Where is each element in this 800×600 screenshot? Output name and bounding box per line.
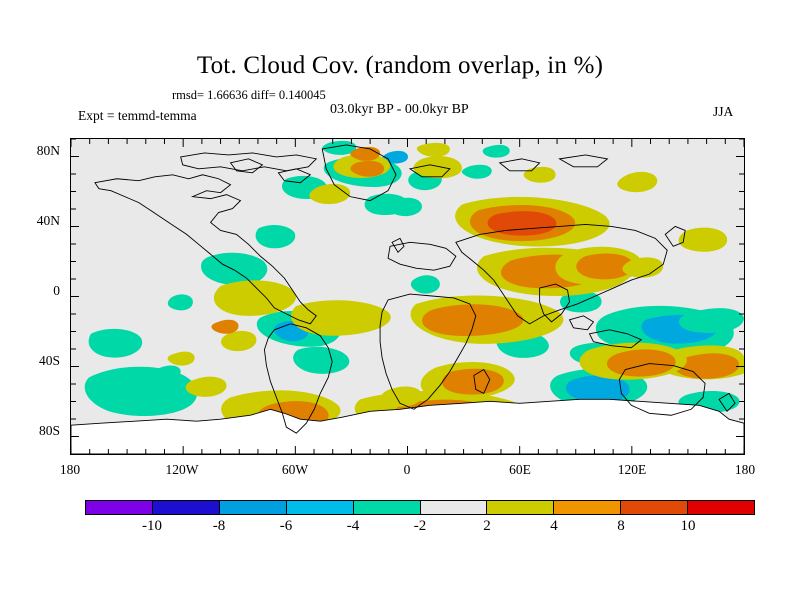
colorbar-tick-neg2: -2	[390, 518, 450, 535]
colorbar-tick-8: 8	[591, 518, 651, 535]
colorbar-segment-6[interactable]	[487, 501, 554, 514]
colorbar-tick-2: 2	[457, 518, 517, 535]
colorbar-segment-8[interactable]	[621, 501, 688, 514]
colorbar-tick-10: 10	[658, 518, 718, 535]
stats-annotation: rmsd= 1.66636 diff= 0.140045	[172, 88, 326, 103]
xtick-60w: 60W	[260, 462, 330, 478]
ytick-80s: 80S	[8, 423, 60, 439]
colorbar-segment-4[interactable]	[354, 501, 421, 514]
colorbar-segment-2[interactable]	[220, 501, 287, 514]
colorbar[interactable]	[85, 500, 755, 515]
colorbar-segment-5[interactable]	[421, 501, 488, 514]
period-subtitle: 03.0kyr BP - 00.0kyr BP	[330, 102, 469, 118]
colorbar-tick-neg10: -10	[122, 518, 182, 535]
xtick-120w: 120W	[147, 462, 217, 478]
figure-root: Tot. Cloud Cov. (random overlap, in %) r…	[0, 0, 800, 600]
colorbar-segment-7[interactable]	[554, 501, 621, 514]
colorbar-segment-9[interactable]	[688, 501, 754, 514]
xtick-60e: 60E	[485, 462, 555, 478]
map-plot-area[interactable]	[70, 138, 745, 455]
colorbar-segment-1[interactable]	[153, 501, 220, 514]
ytick-40s: 40S	[8, 353, 60, 369]
ytick-0: 0	[8, 283, 60, 299]
colorbar-tick-4: 4	[524, 518, 584, 535]
xtick-120e: 120E	[597, 462, 667, 478]
colorbar-tick-neg8: -8	[189, 518, 249, 535]
colorbar-segment-3[interactable]	[287, 501, 354, 514]
season-label: JJA	[713, 104, 733, 120]
xtick-180e: 180	[710, 462, 780, 478]
ytick-80n: 80N	[8, 143, 60, 159]
map-canvas	[71, 139, 744, 454]
xtick-0: 0	[372, 462, 442, 478]
experiment-label: Expt = temmd-temma	[78, 108, 197, 124]
colorbar-tick-neg4: -4	[323, 518, 383, 535]
page-title: Tot. Cloud Cov. (random overlap, in %)	[0, 52, 800, 80]
colorbar-segment-0[interactable]	[86, 501, 153, 514]
ytick-40n: 40N	[8, 213, 60, 229]
xtick-180w: 180	[35, 462, 105, 478]
colorbar-tick-neg6: -6	[256, 518, 316, 535]
